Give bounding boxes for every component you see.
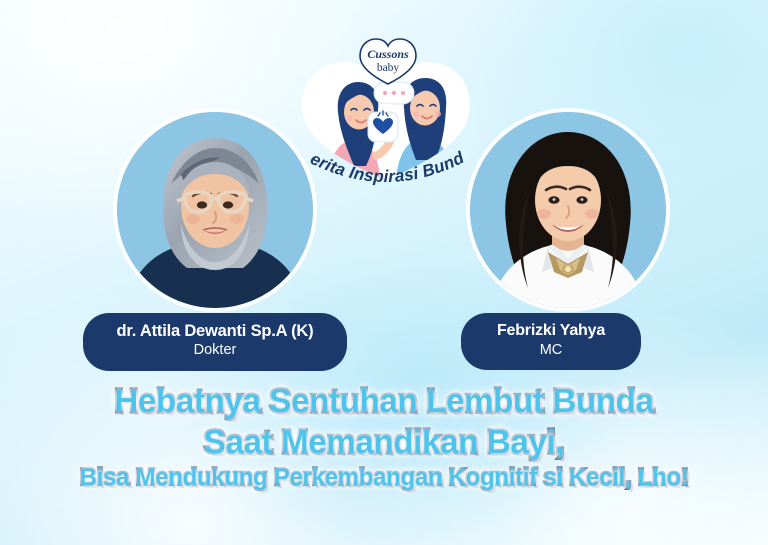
brand-name-line2: baby [377, 62, 400, 74]
headline: Hebatnya Sentuhan Lembut Bunda Saat Mema… [0, 384, 768, 490]
speaker-role: MC [483, 341, 619, 359]
headline-line-1: Hebatnya Sentuhan Lembut Bunda [0, 384, 768, 417]
speaker-name: Febrizki Yahya [483, 322, 619, 340]
brand-name-line1: Cussons [367, 47, 409, 61]
speaker-role: Dokter [105, 341, 325, 359]
speaker-badge-doctor: dr. Attila Dewanti Sp.A (K) Dokter [83, 313, 347, 371]
speaker-photo-mc [470, 112, 666, 308]
headline-line-3: Bisa Mendukung Perkembangan Kognitif si … [0, 466, 768, 490]
speaker-photo-doctor [117, 112, 313, 308]
program-emblem: Cussons baby Cerita Inspirasi Bunda [288, 34, 484, 196]
speaker-name: dr. Attila Dewanti Sp.A (K) [105, 322, 325, 340]
promo-poster: Cussons baby Cerita Inspirasi Bunda [0, 0, 768, 545]
headline-line-2: Saat Memandikan Bayi, [0, 425, 768, 458]
speaker-badge-mc: Febrizki Yahya MC [461, 313, 641, 370]
